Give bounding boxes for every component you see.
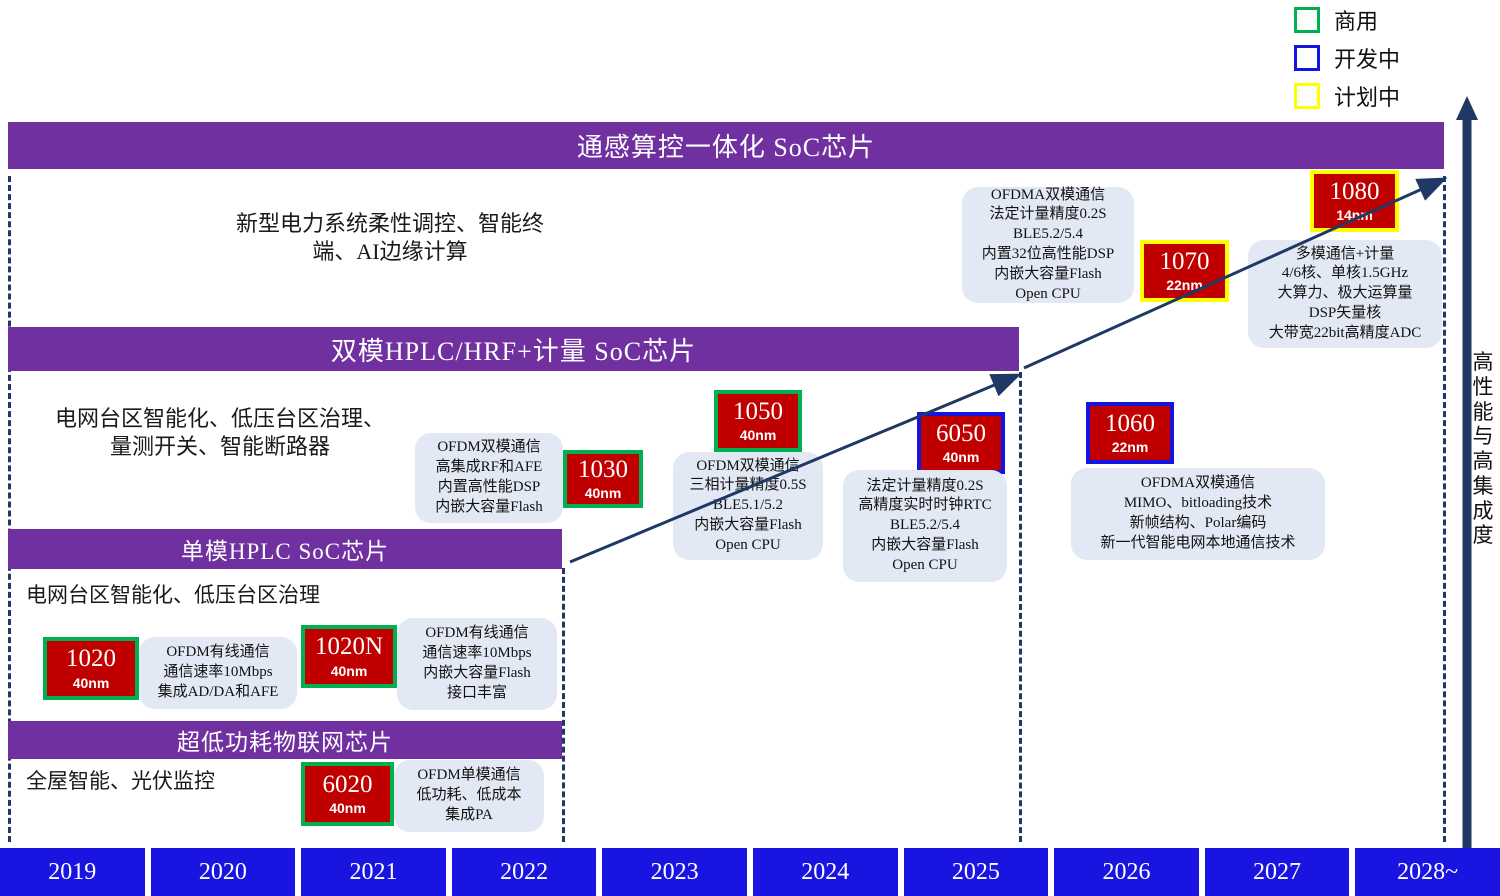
spec-line: 集成PA [445,806,493,826]
spec-line: 三相计量精度0.5S [689,476,806,496]
spec-line: 多模通信+计量 [1296,245,1394,265]
spec-line: OFDM单模通信 [417,766,520,786]
spec-line: 大带宽22bit高精度ADC [1269,324,1422,344]
chip-1060[interactable]: 1060 22nm [1086,402,1174,464]
spec-line: 接口丰富 [447,684,507,704]
spec-line: Open CPU [1015,285,1080,305]
legend-label-in-development: 开发中 [1334,42,1400,74]
year-cell[interactable]: 2027 [1205,848,1350,896]
spec-line: 内嵌大容量Flash [423,664,531,684]
desc-line: 端、AI边缘计算 [190,238,590,266]
chip-number-1020n: 1020N [315,634,383,660]
legend-label-commercial: 商用 [1334,4,1378,36]
spec-line: OFDM双模通信 [437,438,540,458]
performance-axis-label: 高性能与高集成度 [1470,350,1496,548]
spec-line: BLE5.2/5.4 [1013,225,1083,245]
year-cell[interactable]: 2019 [0,848,145,896]
bubble-1020: OFDM有线通信 通信速率10Mbps 集成AD/DA和AFE [139,637,297,709]
chip-1030[interactable]: 1030 40nm [563,450,643,508]
chip-6020[interactable]: 6020 40nm [301,762,394,826]
chip-node-1050: 40nm [740,427,777,443]
spec-line: 高精度实时时钟RTC [858,496,991,516]
bubble-1020n: OFDM有线通信 通信速率10Mbps 内嵌大容量Flash 接口丰富 [397,618,557,710]
desc-line: 全屋智能、光伏监控 [26,768,296,795]
spec-line: 法定计量精度0.2S [866,477,983,497]
band-single-mode: 单模HPLC SoC芯片 [8,529,562,569]
spec-line: 内置32位高性能DSP [982,245,1115,265]
band-dual-mode: 双模HPLC/HRF+计量 SoC芯片 [8,327,1019,371]
desc-single-mode: 电网台区智能化、低压台区治理 [26,582,366,609]
spec-line: 集成AD/DA和AFE [158,683,279,703]
bubble-6020: OFDM单模通信 低功耗、低成本 集成PA [394,760,544,832]
chip-1020n[interactable]: 1020N 40nm [301,625,397,688]
performance-axis-text: 高性能与高集成度 [1470,350,1496,548]
spec-line: BLE5.2/5.4 [890,516,960,536]
bubble-6050: 法定计量精度0.2S 高精度实时时钟RTC BLE5.2/5.4 内嵌大容量Fl… [843,470,1007,582]
legend-item-commercial: 商用 [1294,4,1494,36]
chip-node-1020: 40nm [73,675,110,691]
legend: 商用 开发中 计划中 [1294,4,1494,118]
spec-line: Open CPU [892,556,957,576]
divider-2022-dashed [562,568,565,842]
spec-line: MIMO、bitloading技术 [1124,494,1272,514]
legend-swatch-yellow-icon [1294,83,1320,109]
chip-node-1060: 22nm [1112,439,1149,455]
spec-line: 内嵌大容量Flash [694,516,802,536]
year-cell[interactable]: 2023 [602,848,747,896]
spec-line: 内嵌大容量Flash [994,265,1102,285]
roadmap-canvas: 商用 开发中 计划中 通感算控一体化 SoC芯片 新型电力系统柔性调控、智能终 … [0,0,1500,896]
spec-line: 通信速率10Mbps [422,644,531,664]
chip-node-1070: 22nm [1166,277,1203,293]
band-soc-integrated: 通感算控一体化 SoC芯片 [8,122,1444,169]
spec-line: 低功耗、低成本 [416,786,521,806]
band-ultra-low-power: 超低功耗物联网芯片 [8,721,562,759]
spec-line: OFDM有线通信 [425,624,528,644]
divider-right-dashed [1443,176,1446,842]
spec-line: DSP矢量核 [1309,304,1382,324]
year-cell[interactable]: 2021 [301,848,446,896]
chip-node-6020: 40nm [329,800,366,816]
spec-line: Open CPU [715,536,780,556]
legend-item-in-development: 开发中 [1294,42,1494,74]
bubble-1070: OFDMA双模通信 法定计量精度0.2S BLE5.2/5.4 内置32位高性能… [962,187,1134,303]
year-cell[interactable]: 2026 [1054,848,1199,896]
desc-soc-integrated: 新型电力系统柔性调控、智能终 端、AI边缘计算 [190,210,590,266]
legend-swatch-blue-icon [1294,45,1320,71]
chip-number-6050: 6050 [936,421,986,447]
divider-2025-dashed [1019,372,1022,842]
chip-1050[interactable]: 1050 40nm [714,390,802,452]
chip-number-6020: 6020 [323,772,373,798]
spec-line: OFDM有线通信 [166,643,269,663]
band-title-dual-mode: 双模HPLC/HRF+计量 SoC芯片 [331,331,696,368]
desc-ultra-low-power: 全屋智能、光伏监控 [26,768,296,795]
year-cell[interactable]: 2022 [452,848,597,896]
chip-number-1080: 1080 [1330,179,1380,205]
chip-number-1070: 1070 [1160,249,1210,275]
spec-line: 新帧结构、Polar编码 [1130,514,1267,534]
chip-1070[interactable]: 1070 22nm [1140,240,1229,302]
band-title-soc-integrated: 通感算控一体化 SoC芯片 [577,127,875,164]
chip-node-6050: 40nm [943,449,980,465]
spec-line: 内嵌大容量Flash [435,498,543,518]
chip-number-1050: 1050 [733,399,783,425]
spec-line: BLE5.1/5.2 [713,496,783,516]
year-cell[interactable]: 2025 [904,848,1049,896]
spec-line: OFDM双模通信 [696,457,799,477]
band-title-ultra-low-power: 超低功耗物联网芯片 [177,723,393,757]
chip-number-1060: 1060 [1105,411,1155,437]
desc-line: 量测开关、智能断路器 [20,433,420,461]
year-axis: 2019 2020 2021 2022 2023 2024 2025 2026 … [0,848,1500,896]
chip-node-1030: 40nm [585,485,622,501]
spec-line: 4/6核、单核1.5GHz [1282,264,1408,284]
desc-line: 新型电力系统柔性调控、智能终 [190,210,590,238]
legend-swatch-green-icon [1294,7,1320,33]
bubble-1030: OFDM双模通信 高集成RF和AFE 内置高性能DSP 内嵌大容量Flash [415,433,563,523]
chip-number-1030: 1030 [578,457,628,483]
band-title-single-mode: 单模HPLC SoC芯片 [181,532,389,566]
legend-label-planned: 计划中 [1334,80,1400,112]
spec-line: 法定计量精度0.2S [989,205,1106,225]
year-cell[interactable]: 2028~ [1355,848,1500,896]
spec-line: OFDMA双模通信 [991,186,1105,206]
spec-line: 新一代智能电网本地通信技术 [1100,534,1295,554]
spec-line: OFDMA双模通信 [1141,474,1255,494]
bubble-1080: 多模通信+计量 4/6核、单核1.5GHz 大算力、极大运算量 DSP矢量核 大… [1248,240,1442,348]
year-cell[interactable]: 2024 [753,848,898,896]
spec-line: 内置高性能DSP [438,478,541,498]
spec-line: 通信速率10Mbps [163,663,272,683]
chip-number-1020: 1020 [66,646,116,672]
desc-dual-mode: 电网台区智能化、低压台区治理、 量测开关、智能断路器 [20,405,420,461]
chip-node-1020n: 40nm [331,663,368,679]
bubble-1050: OFDM双模通信 三相计量精度0.5S BLE5.1/5.2 内嵌大容量Flas… [673,452,823,560]
chip-1080[interactable]: 1080 14nm [1310,170,1399,232]
year-cell[interactable]: 2020 [151,848,296,896]
legend-item-planned: 计划中 [1294,80,1494,112]
chip-1020[interactable]: 1020 40nm [43,637,139,700]
spec-line: 高集成RF和AFE [436,458,543,478]
desc-line: 电网台区智能化、低压台区治理 [26,582,366,609]
spec-line: 大算力、极大运算量 [1277,284,1412,304]
spec-line: 内嵌大容量Flash [871,536,979,556]
desc-line: 电网台区智能化、低压台区治理、 [20,405,420,433]
bubble-1060: OFDMA双模通信 MIMO、bitloading技术 新帧结构、Polar编码… [1071,468,1325,560]
chip-node-1080: 14nm [1336,207,1373,223]
chip-6050[interactable]: 6050 40nm [917,412,1005,474]
